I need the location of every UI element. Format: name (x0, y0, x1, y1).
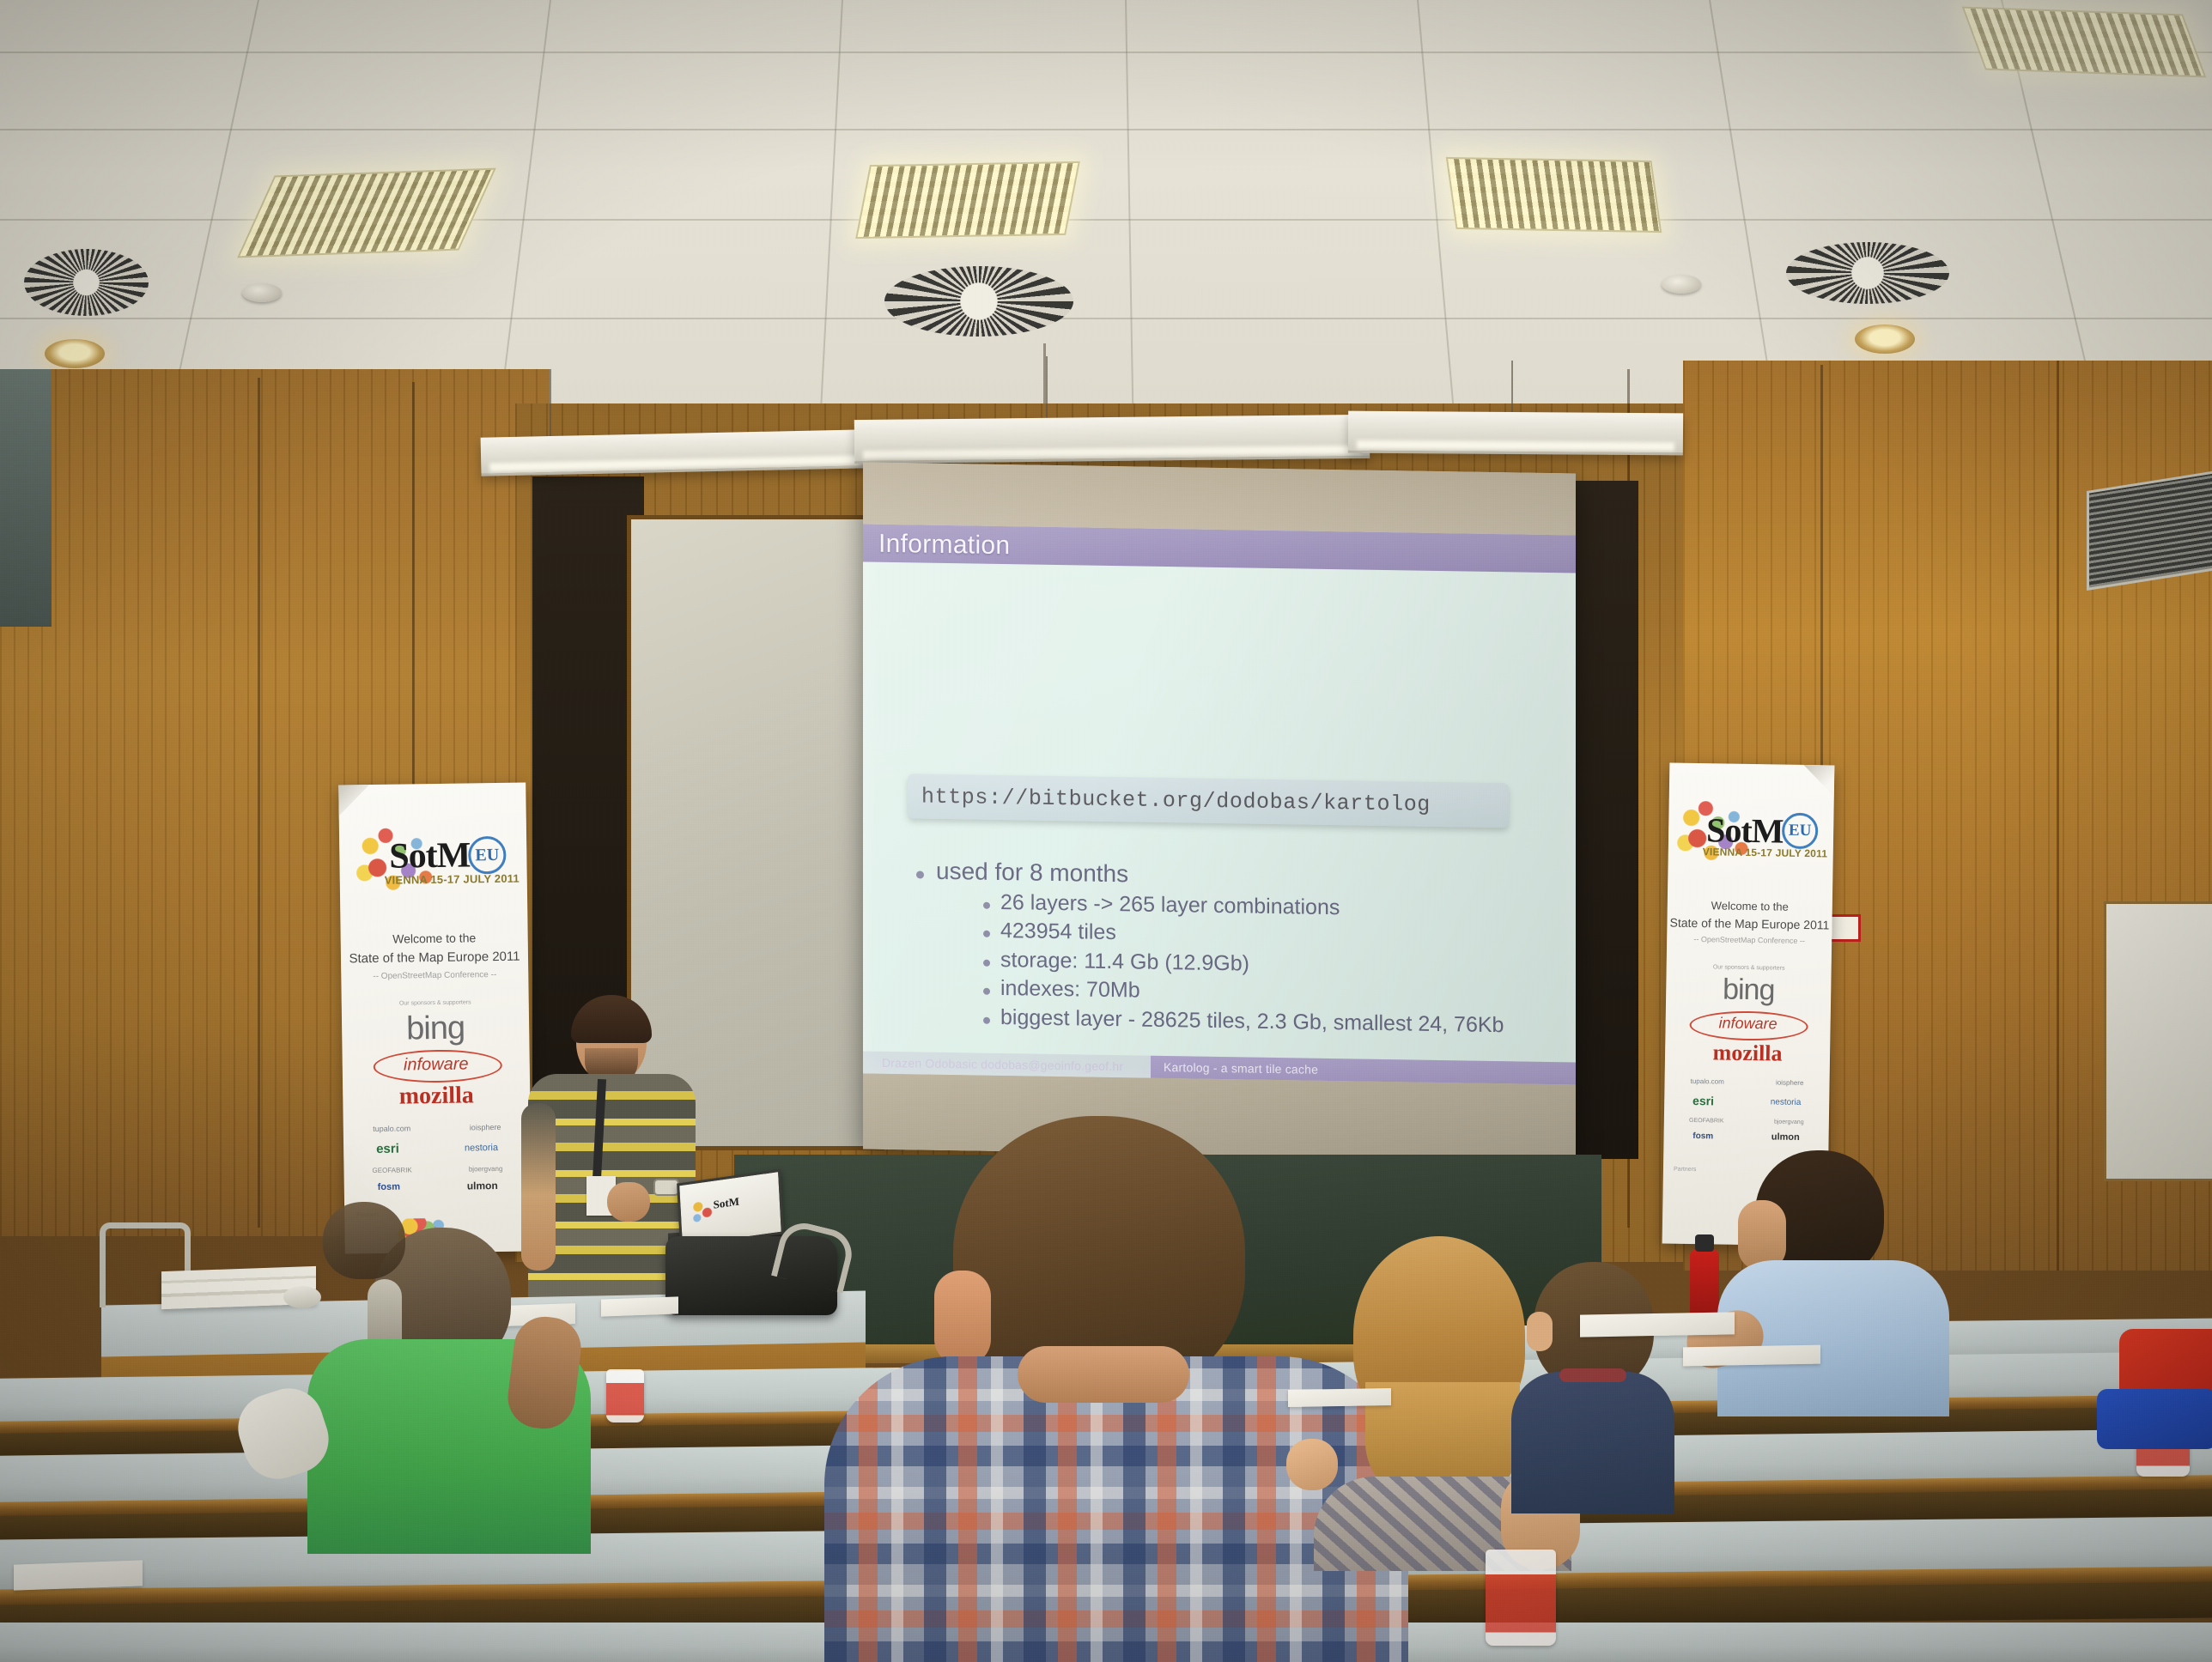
bullet-dot-icon (983, 960, 990, 967)
presentation-slide: Information https://bitbucket.org/dodoba… (863, 524, 1576, 1084)
ceiling-panel-light-1 (237, 168, 496, 258)
sponsor-logo-geofabrik: GEOFABRIK (1689, 1118, 1724, 1125)
slide-footer-author: Drazen Odobasic dodobas@geoinfo.geof.hr (882, 1056, 1123, 1073)
suspended-light-bar-3 (1348, 411, 1683, 456)
ceiling-air-vent-3 (1786, 242, 1949, 304)
sponsor-logo-bjoergvang: bjoergvang (1774, 1119, 1804, 1125)
sponsor-logo-esri: esri (1692, 1094, 1714, 1107)
sponsor-logo-fosm: fosm (378, 1182, 400, 1192)
sponsor-logo-geofabrik: GEOFABRIK (372, 1166, 411, 1174)
bullet-dot-icon (983, 988, 990, 995)
sponsor-logo-nestoria: nestoria (465, 1142, 498, 1153)
lecture-hall-photo: Information https://bitbucket.org/dodoba… (0, 0, 2212, 1662)
banner-left-sotm: SotM EU VIENNA 15-17 JULY 2011 Welcome t… (338, 783, 532, 1254)
whiteboard-right (2104, 901, 2212, 1181)
paper-sheet-row (1288, 1388, 1391, 1407)
sponsor-logo-ulmon: ulmon (467, 1180, 498, 1192)
presenter-wristwatch (653, 1179, 679, 1196)
sponsor-logo-tupalo: tupalo.com (1691, 1077, 1724, 1086)
audience-partial-head (323, 1202, 405, 1279)
sponsor-logo-bjoergvang: bjoergvang (469, 1165, 503, 1174)
presenter-hand (607, 1182, 650, 1222)
bullet-dot-icon (983, 1017, 990, 1024)
banner-welcome-line1: Welcome to the (341, 930, 528, 946)
audience-boy-shirt (1511, 1372, 1674, 1513)
ceiling-air-vent-1 (24, 249, 149, 316)
light-bar-hanger-1 (550, 369, 551, 438)
suspended-light-bar-1 (481, 429, 868, 476)
sotm-date-line: VIENNA 15-17 JULY 2011 (1703, 846, 1828, 859)
sotm-date-line: VIENNA 15-17 JULY 2011 (385, 872, 520, 887)
sponsor-logo-fosm: fosm (1692, 1131, 1713, 1141)
bullet-dot-icon (916, 870, 924, 878)
bullet-text: indexes: 70Mb (1000, 974, 1140, 1005)
banner-welcome-line2: State of the Map Europe 2011 (341, 949, 528, 966)
sponsor-logo-ioisphere: ioisphere (1776, 1079, 1804, 1088)
ceiling-air-vent-2 (884, 266, 1073, 337)
banner-sponsor-heading: Our sponsors & supporters (1667, 963, 1832, 972)
cup-red-drink-center (1486, 1550, 1556, 1646)
fire-extinguisher-valve (1695, 1234, 1714, 1252)
bullet-dot-icon (983, 931, 990, 937)
audience-hand-raised (1286, 1439, 1338, 1490)
sponsor-logo-infoware: infoware (343, 1053, 530, 1076)
sponsor-logo-ulmon: ulmon (1771, 1131, 1800, 1143)
doorway-recess-right (1570, 481, 1638, 1159)
projection-screen: Information https://bitbucket.org/dodoba… (863, 462, 1576, 1160)
sotm-logo-word: SotM (389, 834, 471, 876)
audience-boy-ear (1527, 1312, 1553, 1351)
sponsor-logo-nestoria: nestoria (1771, 1097, 1802, 1107)
slide-footer-talk-title: Kartolog - a smart tile cache (1164, 1060, 1318, 1077)
bullet-dot-icon (983, 902, 990, 909)
audience-man-blue (1717, 1150, 1949, 1416)
ceiling-panel-light-2 (855, 161, 1080, 239)
screen-top-band (863, 462, 1576, 535)
banner-sponsor-heading: Our sponsors & supporters (342, 998, 529, 1007)
sotm-logo-word: SotM (1706, 810, 1784, 851)
sponsor-logo-ioisphere: ioisphere (470, 1123, 501, 1132)
smoke-detector-right (1662, 275, 1701, 294)
audience-neck-plaid (1018, 1346, 1189, 1403)
ceiling-panel-light-3 (1446, 157, 1662, 233)
slide-bullet-list: used for 8 months 26 layers -> 265 layer… (916, 855, 1552, 1040)
paper-sheet-row (1683, 1345, 1820, 1367)
bullet-text: used for 8 months (936, 856, 1128, 890)
light-bar-hanger-3 (1511, 361, 1513, 419)
laptop-sticker-label: SotM (713, 1195, 739, 1212)
wall-left-dark-panel (0, 369, 52, 627)
sponsor-logo-esri: esri (376, 1142, 399, 1156)
jacket-blue (2097, 1389, 2212, 1449)
audience-boy (1511, 1262, 1674, 1511)
sotm-logo-eu-badge: EU (468, 836, 507, 875)
audience-partial-left (323, 1202, 426, 1305)
light-bar-hanger-2 (1046, 356, 1048, 423)
sponsor-logo-mozilla: mozilla (343, 1081, 530, 1111)
banner-welcome-line1: Welcome to the (1668, 899, 1832, 914)
sponsor-logo-bing: bing (1666, 972, 1832, 1008)
wall-seam-1 (258, 378, 260, 1228)
paper-sheet-row (1580, 1312, 1735, 1337)
banner-welcome-line2: State of the Map Europe 2011 (1667, 916, 1832, 932)
sponsor-logo-tupalo: tupalo.com (373, 1124, 410, 1133)
bullet-text: storage: 11.4 Gb (12.9Gb) (1000, 946, 1249, 979)
slide-title: Information (878, 530, 1010, 561)
bullet-text: 423954 tiles (1000, 917, 1116, 948)
sotm-logo-eu-badge: EU (1782, 813, 1819, 850)
wall-seam-5 (2057, 361, 2059, 1271)
ceiling-downlight-right (1855, 325, 1915, 354)
audience-ear-plaid (934, 1271, 991, 1365)
presenter-hair (571, 995, 652, 1043)
banner-welcome-sub: -- OpenStreetMap Conference -- (341, 969, 528, 981)
suspended-light-bar-2 (854, 415, 1370, 464)
banner-corner-curl (1803, 765, 1835, 797)
wall-ventilation-grille (2087, 470, 2212, 591)
ceiling-downlight-left (45, 339, 105, 368)
ceiling-panel-light-4 (1962, 7, 2207, 78)
slide-url-box: https://bitbucket.org/dodobas/kartolog (908, 773, 1509, 828)
sponsor-logo-mozilla: mozilla (1665, 1039, 1830, 1067)
sponsor-logo-infoware: infoware (1665, 1013, 1830, 1034)
smoke-detector-left (242, 283, 282, 302)
cup-red-drink-left (606, 1369, 644, 1422)
slide-url-text: https://bitbucket.org/dodobas/kartolog (921, 785, 1431, 817)
audience-boy-collar (1559, 1368, 1626, 1382)
paper-sheet-foreground (14, 1560, 143, 1590)
sponsor-logo-bing: bing (342, 1009, 530, 1048)
banner-corner-curl (338, 785, 369, 816)
banner-welcome-sub: -- OpenStreetMap Conference -- (1667, 935, 1832, 946)
